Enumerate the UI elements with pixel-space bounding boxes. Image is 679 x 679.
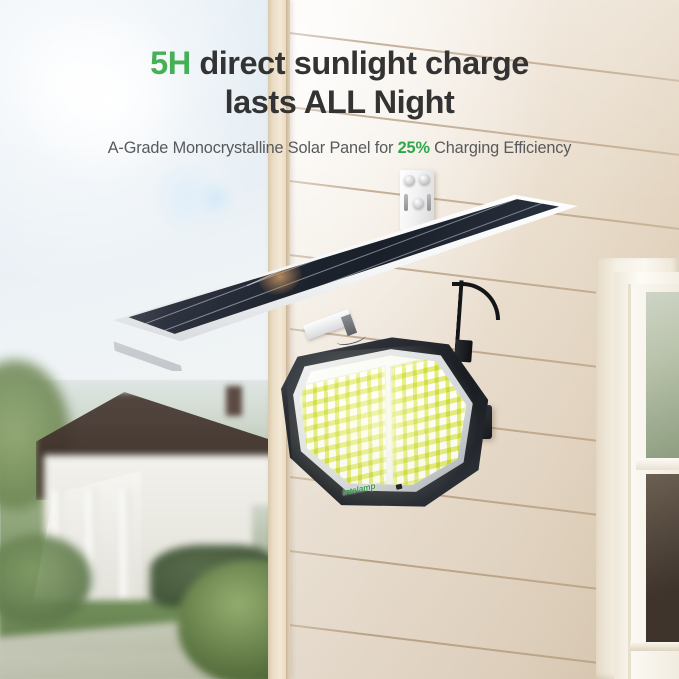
marketing-copy: 5H direct sunlight charge lasts ALL Nigh… (0, 44, 679, 158)
bracket-bolt (404, 175, 415, 186)
headline-accent: 5H (150, 45, 191, 81)
porch-column (120, 490, 131, 600)
subtitle-after: Charging Efficiency (430, 139, 572, 157)
cell-gridline (108, 251, 149, 346)
house-window (596, 258, 679, 679)
headline-line2: lasts ALL Night (225, 84, 455, 120)
window-sill (630, 642, 679, 651)
window-glass-lower (646, 474, 679, 642)
subtitle-accent: 25% (398, 139, 430, 157)
subtitle-before: A-Grade Monocrystalline Solar Panel for (108, 139, 398, 157)
window-glass-upper (646, 292, 679, 460)
product-hero-image: intelamp 5H direct sunlight charge lasts… (0, 0, 679, 679)
page-subtitle: A-Grade Monocrystalline Solar Panel for … (0, 139, 679, 158)
window-meeting-rail (636, 458, 679, 470)
headline-line1-rest: direct sunlight charge (191, 45, 529, 81)
page-title: 5H direct sunlight charge lasts ALL Nigh… (0, 44, 679, 122)
chimney (226, 386, 242, 416)
led-flood-light: intelamp (276, 331, 496, 527)
bracket-bolt (419, 174, 430, 185)
